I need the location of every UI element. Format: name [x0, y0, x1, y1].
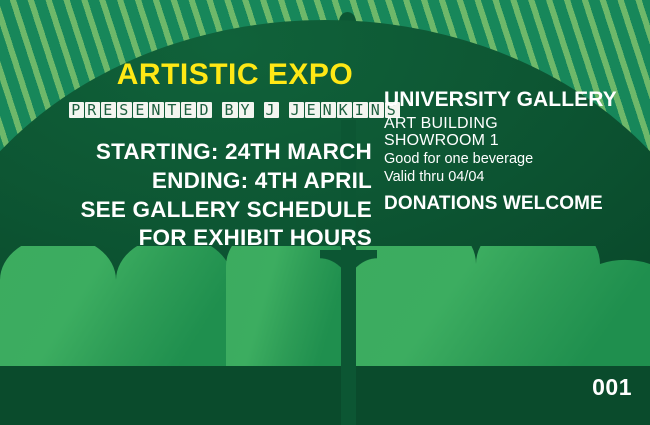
presented-by-char: D [197, 102, 212, 118]
schedule-line: ENDING: 4TH APRIL [0, 167, 372, 196]
venue-name: UNIVERSITY GALLERY [384, 88, 634, 112]
venue-room: SHOWROOM 1 [384, 132, 634, 150]
presented-by-char: E [305, 102, 320, 118]
presented-by-char: P [69, 102, 84, 118]
venue-building: ART BUILDING [384, 115, 634, 133]
venue-block: UNIVERSITY GALLERY ART BUILDING SHOWROOM… [384, 88, 634, 214]
presented-by-char: R [85, 102, 100, 118]
schedule-line: STARTING: 24TH MARCH [0, 138, 372, 167]
schedule-line: SEE GALLERY SCHEDULE [0, 196, 372, 225]
presented-by-char: K [337, 102, 352, 118]
presented-by-char: T [165, 102, 180, 118]
serial-number: 001 [592, 374, 632, 401]
presented-by-char: N [149, 102, 164, 118]
valid-thru: Valid thru 04/04 [384, 169, 634, 185]
presented-by-char: J [264, 102, 279, 118]
presented-by-char: E [181, 102, 196, 118]
presented-by-char: Y [239, 102, 254, 118]
presented-by-char: N [321, 102, 336, 118]
presented-by-char: N [369, 102, 384, 118]
donations-notice: DONATIONS WELCOME [384, 193, 634, 214]
schedule-lines: STARTING: 24TH MARCH ENDING: 4TH APRIL S… [0, 138, 372, 253]
event-ticket: ARTISTIC EXPO PRESENTEDBYJJENKINS STARTI… [0, 0, 650, 425]
beverage-note: Good for one beverage [384, 151, 634, 167]
schedule-line: FOR EXHIBIT HOURS [0, 224, 372, 253]
presented-by-char: S [117, 102, 132, 118]
presented-by-char: J [289, 102, 304, 118]
event-title: ARTISTIC EXPO [0, 60, 470, 90]
presented-by-char: B [222, 102, 237, 118]
presented-by-text: PRESENTEDBYJJENKINS [69, 101, 401, 119]
presented-by-char: E [133, 102, 148, 118]
presented-by-char: I [353, 102, 368, 118]
presented-by-char: E [101, 102, 116, 118]
